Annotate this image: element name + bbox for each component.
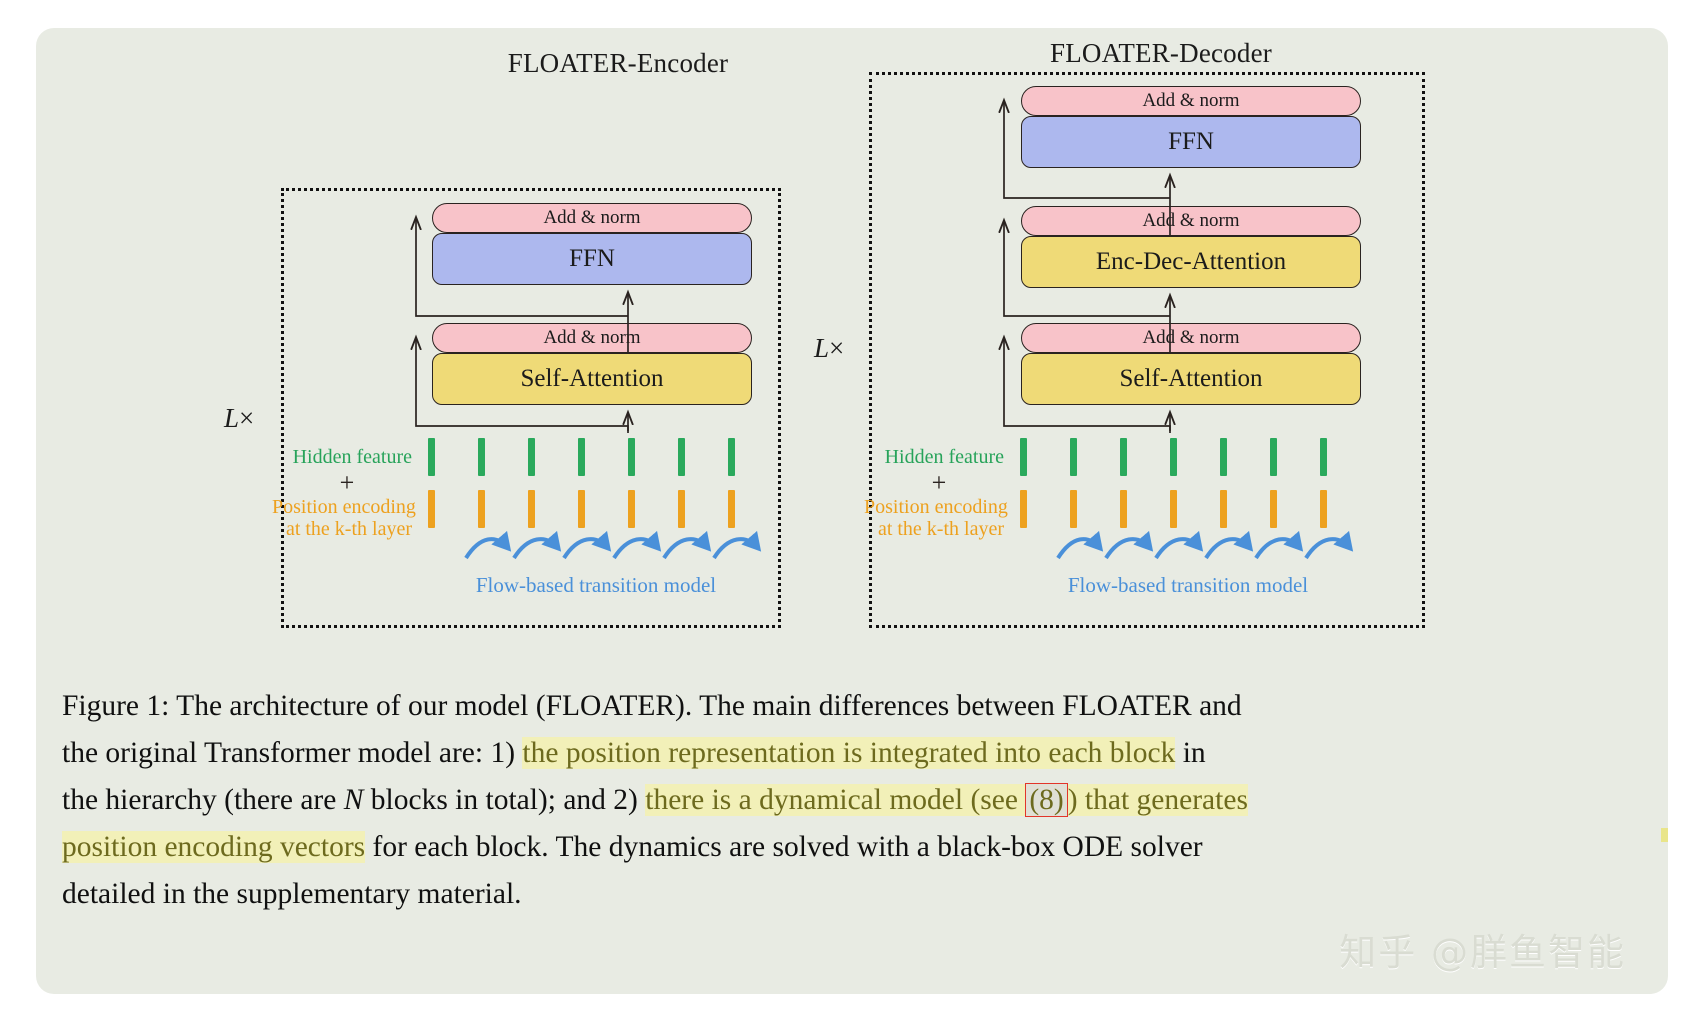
- caption-text: the hierarchy (there are: [62, 784, 344, 816]
- encoder-repeat-letter: L: [224, 403, 239, 433]
- encoder-position-tick: [678, 490, 685, 528]
- highlight-corner-marker: [1661, 828, 1668, 842]
- encoder-ffn: FFN: [432, 233, 752, 285]
- encoder-position-encoding-label-line1: Position encoding: [272, 496, 412, 519]
- decoder-hidden-tick: [1020, 438, 1027, 476]
- caption-text: blocks in total); and 2): [363, 784, 645, 816]
- caption-math-symbol: N: [344, 784, 364, 816]
- encoder-position-tick: [428, 490, 435, 528]
- figure-card: FLOATER-Encoder L× Add & norm FFN Add & …: [36, 28, 1668, 994]
- decoder-flow-label: Flow-based transition model: [1058, 573, 1318, 598]
- encoder-plus-symbol: +: [282, 468, 412, 498]
- decoder-hidden-tick: [1120, 438, 1127, 476]
- decoder-position-tick: [1020, 490, 1027, 528]
- encoder-position-tick: [628, 490, 635, 528]
- decoder-self-attention: Self-Attention: [1021, 353, 1361, 405]
- decoder-add-norm-bottom: Add & norm: [1021, 323, 1361, 353]
- decoder-repeat-letter: L: [814, 333, 829, 363]
- decoder-title: FLOATER-Decoder: [946, 38, 1376, 69]
- encoder-hidden-tick: [478, 438, 485, 476]
- encoder-position-tick: [578, 490, 585, 528]
- decoder-enc-dec-attention: Enc-Dec-Attention: [1021, 236, 1361, 288]
- encoder-repeat-times: ×: [239, 403, 254, 433]
- decoder-add-norm-top: Add & norm: [1021, 86, 1361, 116]
- decoder-plus-symbol: +: [874, 468, 1004, 498]
- figure-caption: Figure 1: The architecture of our model …: [62, 683, 1642, 918]
- watermark: 知乎 @羘鱼智能: [1339, 922, 1626, 976]
- watermark-logo: 知乎: [1339, 931, 1417, 974]
- caption-text: the original Transformer model are: 1): [62, 737, 522, 769]
- caption-text: detailed in the supplementary material.: [62, 878, 522, 910]
- encoder-add-norm-bottom: Add & norm: [432, 323, 752, 353]
- decoder-position-tick: [1170, 490, 1177, 528]
- encoder-self-attention: Self-Attention: [432, 353, 752, 405]
- encoder-hidden-tick: [628, 438, 635, 476]
- decoder-hidden-tick: [1070, 438, 1077, 476]
- decoder-hidden-tick: [1170, 438, 1177, 476]
- encoder-hidden-tick: [678, 438, 685, 476]
- decoder-position-tick: [1320, 490, 1327, 528]
- decoder-ffn: FFN: [1021, 116, 1361, 168]
- caption-line: position encoding vectors for each block…: [62, 824, 1642, 871]
- figure-page: FLOATER-Encoder L× Add & norm FFN Add & …: [0, 0, 1704, 1022]
- decoder-hidden-tick: [1270, 438, 1277, 476]
- decoder-position-tick: [1070, 490, 1077, 528]
- decoder-repeat-times: ×: [829, 333, 844, 363]
- encoder-position-encoding-label-line2: at the k-th layer: [272, 518, 412, 541]
- encoder-add-norm-top: Add & norm: [432, 203, 752, 233]
- encoder-position-tick: [528, 490, 535, 528]
- decoder-hidden-tick: [1220, 438, 1227, 476]
- decoder-position-encoding-label-line1: Position encoding: [864, 496, 1004, 519]
- encoder-title: FLOATER-Encoder: [418, 48, 818, 79]
- encoder-hidden-tick: [728, 438, 735, 476]
- encoder-hidden-tick: [528, 438, 535, 476]
- caption-line: Figure 1: The architecture of our model …: [62, 683, 1642, 730]
- decoder-position-tick: [1270, 490, 1277, 528]
- caption-text: in: [1175, 737, 1205, 769]
- watermark-handle: @羘鱼智能: [1431, 931, 1626, 974]
- caption-line: the original Transformer model are: 1) t…: [62, 730, 1642, 777]
- caption-highlight: ) that generates: [1068, 784, 1248, 816]
- encoder-flow-label: Flow-based transition model: [466, 573, 726, 598]
- encoder-hidden-tick: [578, 438, 585, 476]
- decoder-repeat-label: L×: [814, 333, 844, 364]
- caption-line: the hierarchy (there are N blocks in tot…: [62, 777, 1642, 824]
- decoder-position-encoding-label-line2: at the k-th layer: [864, 518, 1004, 541]
- decoder-position-tick: [1220, 490, 1227, 528]
- caption-highlight: there is a dynamical model (see: [645, 784, 1025, 816]
- encoder-hidden-feature-label: Hidden feature: [282, 446, 412, 469]
- citation-reference[interactable]: (8): [1025, 783, 1067, 817]
- caption-highlight: position encoding vectors: [62, 831, 365, 863]
- decoder-add-norm-middle: Add & norm: [1021, 206, 1361, 236]
- decoder-hidden-feature-label: Hidden feature: [874, 446, 1004, 469]
- decoder-hidden-tick: [1320, 438, 1327, 476]
- caption-text: Figure 1: The architecture of our model …: [62, 690, 1242, 722]
- caption-line: detailed in the supplementary material.: [62, 871, 1642, 918]
- encoder-position-tick: [478, 490, 485, 528]
- encoder-position-tick: [728, 490, 735, 528]
- caption-highlight: the position representation is integrate…: [522, 737, 1175, 769]
- caption-text: for each block. The dynamics are solved …: [365, 831, 1202, 863]
- architecture-diagram: FLOATER-Encoder L× Add & norm FFN Add & …: [36, 28, 1668, 678]
- decoder-position-tick: [1120, 490, 1127, 528]
- encoder-repeat-label: L×: [224, 403, 254, 434]
- encoder-hidden-tick: [428, 438, 435, 476]
